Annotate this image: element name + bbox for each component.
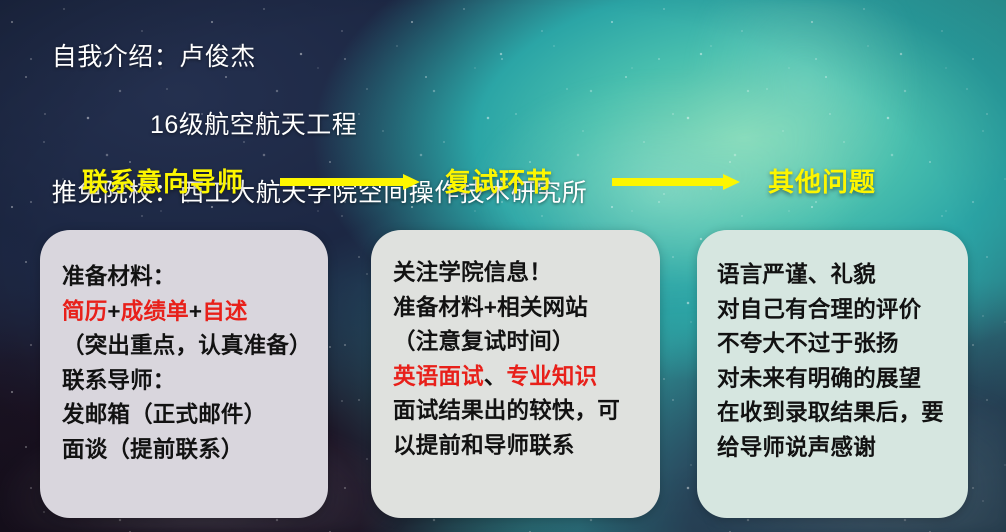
contact-advisor-card: 准备材料：简历+成绩单+自述（突出重点，认真准备）联系导师：发邮箱（正式邮件）面… — [40, 230, 328, 518]
card-line-segment: 专业知识 — [507, 364, 598, 389]
flow-step-label-other-issues: 其他问题 — [768, 160, 876, 204]
card-line-segment: + — [189, 299, 202, 324]
card-line-segment: + — [107, 299, 120, 324]
card-line: 准备材料+相关网站 — [393, 291, 650, 326]
card-line: 准备材料： — [62, 260, 318, 295]
card-line-segment: 简历 — [62, 299, 107, 324]
arrow-shaft — [612, 178, 724, 186]
card-line-segment: 、 — [484, 364, 507, 389]
card-line: 以提前和导师联系 — [393, 429, 650, 464]
flow-step-label-second-interview: 复试环节 — [445, 160, 553, 204]
card-line: 英语面试、专业知识 — [393, 360, 650, 395]
card-line: 面试结果出的较快，可 — [393, 394, 650, 429]
card-body: 准备材料：简历+成绩单+自述（突出重点，认真准备）联系导师：发邮箱（正式邮件）面… — [62, 260, 318, 467]
intro-line-major: 16级航空航天工程 — [22, 108, 722, 142]
card-line: 对自己有合理的评价 — [717, 293, 958, 328]
card-line: 对未来有明确的展望 — [717, 362, 958, 397]
arrow-head — [403, 174, 420, 190]
card-line: 联系导师： — [62, 364, 318, 399]
card-line: （注意复试时间） — [393, 325, 650, 360]
card-line-segment: 自述 — [202, 299, 247, 324]
card-body: 语言严谨、礼貌对自己有合理的评价不夸大不过于张扬对未来有明确的展望在收到录取结果… — [717, 258, 958, 465]
card-line-segment: 成绩单 — [121, 299, 189, 324]
arrow-shaft — [280, 178, 404, 186]
card-line: 语言严谨、礼貌 — [717, 258, 958, 293]
arrow-head — [723, 174, 740, 190]
card-line: 不夸大不过于张扬 — [717, 327, 958, 362]
card-line: 面谈（提前联系） — [62, 433, 318, 468]
other-issues-card: 语言严谨、礼貌对自己有合理的评价不夸大不过于张扬对未来有明确的展望在收到录取结果… — [697, 230, 968, 518]
card-line: 发邮箱（正式邮件） — [62, 398, 318, 433]
card-line-segment: 英语面试 — [393, 364, 484, 389]
card-line: 简历+成绩单+自述 — [62, 295, 318, 330]
card-line: 关注学院信息！ — [393, 256, 650, 291]
card-line: 在收到录取结果后，要 — [717, 396, 958, 431]
flow-arrow-right-icon-1 — [280, 174, 420, 190]
flow-step-label-contact-advisor: 联系意向导师 — [82, 160, 244, 204]
process-flow-row: 联系意向导师 复试环节 其他问题 — [0, 160, 1006, 204]
intro-line-name: 自我介绍：卢俊杰 — [52, 43, 256, 71]
card-body: 关注学院信息！准备材料+相关网站（注意复试时间）英语面试、专业知识面试结果出的较… — [393, 256, 650, 463]
slide-canvas: 自我介绍：卢俊杰 16级航空航天工程 推免院校：西工大航天学院空间操作技术研究所… — [0, 0, 1006, 532]
card-line: （突出重点，认真准备） — [62, 329, 318, 364]
card-line: 给导师说声感谢 — [717, 431, 958, 466]
second-interview-card: 关注学院信息！准备材料+相关网站（注意复试时间）英语面试、专业知识面试结果出的较… — [371, 230, 660, 518]
self-introduction-block: 自我介绍：卢俊杰 16级航空航天工程 推免院校：西工大航天学院空间操作技术研究所 — [22, 6, 722, 244]
flow-arrow-right-icon-2 — [612, 174, 740, 190]
